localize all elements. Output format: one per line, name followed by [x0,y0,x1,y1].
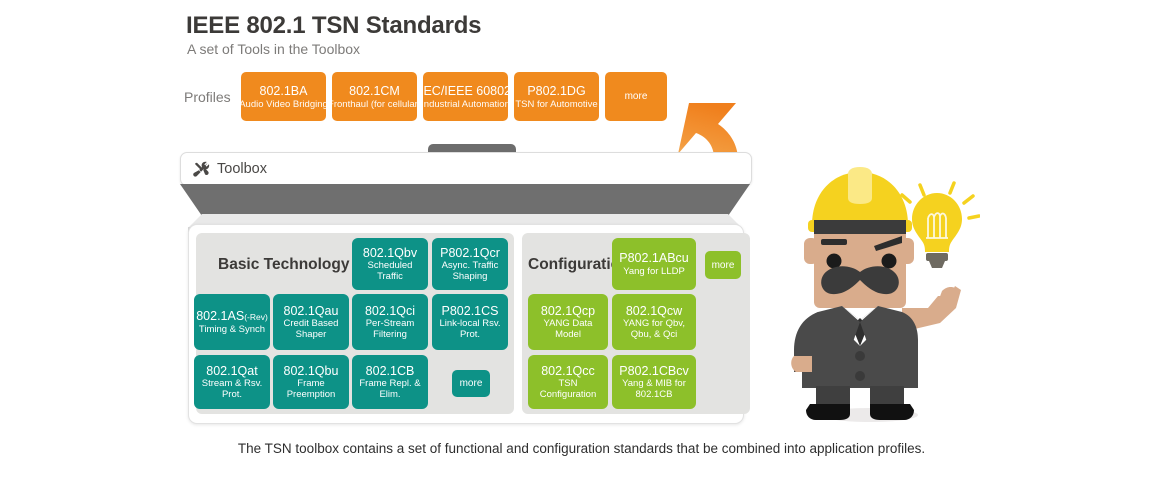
tile-code: 802.1Qcw [626,304,682,319]
eyebrow-left [821,239,847,245]
profile-desc: Industrial Automation [421,99,510,110]
tile-8021qcw[interactable]: 802.1Qcw YANG for Qbv, Qbu, & Qci [612,294,696,350]
toolbox-lid-underside [180,184,750,216]
tile-p8021cbcv[interactable]: P802.1CBcv Yang & MIB for 802.1CB [612,355,696,409]
tile-code-main: 802.1AS [196,309,244,323]
hand-left [791,356,812,372]
profile-chip-8021ba[interactable]: 802.1BA Audio Video Bridging [241,72,326,121]
tile-desc: YANG for Qbv, Qbu, & Qci [615,318,693,340]
profile-code: IEC/IEEE 60802 [420,84,511,99]
tile-desc: Timing & Synch [199,324,265,335]
profile-desc: TSN for Automotive [515,99,597,110]
profile-code: 802.1BA [260,84,308,99]
profile-chip-iec-ieee-60802[interactable]: IEC/IEEE 60802 Industrial Automation [423,72,508,121]
lightbulb-icon [912,193,962,268]
tile-p8021qcr[interactable]: P802.1Qcr Async. Traffic Shaping [432,238,508,290]
toolbox-lid-inner: Toolbox [193,153,267,185]
tile-code: 802.1Qcp [541,304,595,319]
profile-desc: Fronthaul (for cellular) [328,99,421,110]
page-subtitle: A set of Tools in the Toolbox [187,41,360,57]
tile-code: P802.1Qcr [440,246,500,261]
tile-desc: Async. Traffic Shaping [435,260,505,282]
tile-code-suffix: (-Rev) [244,312,268,322]
tile-desc: Frame Preemption [276,378,346,400]
tile-desc: TSN Configuration [531,378,605,400]
tile-code: P802.1CBcv [619,364,688,379]
tile-desc: Yang & MIB for 802.1CB [615,378,693,400]
profile-code: 802.1CM [349,84,400,99]
tile-8021qcc[interactable]: 802.1Qcc TSN Configuration [528,355,608,409]
tile-code: 802.1Qat [206,364,257,379]
tile-desc: Frame Repl. & Elim. [355,378,425,400]
eye-right [882,254,897,269]
infographic-stage: IEEE 802.1 TSN Standards A set of Tools … [0,0,1163,498]
tile-code: P802.1CS [442,304,499,319]
toolbox-label: Toolbox [217,161,267,177]
tile-desc: Per-Stream Filtering [355,318,425,340]
tile-desc: Stream & Rsv. Prot. [197,378,267,400]
tile-desc: Credit Based Shaper [276,318,346,340]
tile-code: 802.1Qbu [284,364,339,379]
basic-technology-title: Basic Technology [218,256,350,274]
construction-worker-illustration [790,160,980,425]
profile-chip-p8021dg[interactable]: P802.1DG TSN for Automotive [514,72,599,121]
profile-chip-8021cm[interactable]: 802.1CM Fronthaul (for cellular) [332,72,417,121]
shoe-right [870,404,914,420]
tile-code: P802.1ABcu [619,251,689,266]
tile-8021cb[interactable]: 802.1CB Frame Repl. & Elim. [352,355,428,409]
button-lower [855,371,865,381]
tile-8021qbu[interactable]: 802.1Qbu Frame Preemption [273,355,349,409]
basic-technology-more-button[interactable]: more [452,370,490,397]
tile-8021as-rev[interactable]: 802.1AS(-Rev) Timing & Synch [194,294,270,350]
tile-8021qau[interactable]: 802.1Qau Credit Based Shaper [273,294,349,350]
eye-left [827,254,842,269]
shoe-left [806,404,850,420]
profile-code: P802.1DG [527,84,585,99]
figure-caption: The TSN toolbox contains a set of functi… [0,441,1163,456]
profile-desc: Audio Video Bridging [239,99,328,110]
tile-code: 802.1AS(-Rev) [196,309,268,325]
tile-8021qcp[interactable]: 802.1Qcp YANG Data Model [528,294,608,350]
tile-p8021cs[interactable]: P802.1CS Link-local Rsv. Prot. [432,294,508,350]
tools-cross-icon [193,161,210,178]
hat-band [814,220,906,234]
tile-code: 802.1CB [366,364,415,379]
tile-8021qbv[interactable]: 802.1Qbv Scheduled Traffic [352,238,428,290]
toolbox-lid[interactable]: Toolbox [180,152,752,186]
tile-code: 802.1Qau [284,304,339,319]
tile-desc: Yang for LLDP [623,266,685,277]
tile-code: 802.1Qci [365,304,415,319]
profiles-label: Profiles [184,89,231,105]
tile-8021qat[interactable]: 802.1Qat Stream & Rsv. Prot. [194,355,270,409]
tile-p8021abcu[interactable]: P802.1ABcu Yang for LLDP [612,238,696,290]
tile-8021qci[interactable]: 802.1Qci Per-Stream Filtering [352,294,428,350]
profiles-row: 802.1BA Audio Video Bridging 802.1CM Fro… [241,72,667,121]
tile-code: 802.1Qcc [541,364,595,379]
page-title: IEEE 802.1 TSN Standards [186,12,481,40]
button-upper [855,351,865,361]
tile-desc: Scheduled Traffic [355,260,425,282]
tile-desc: YANG Data Model [531,318,605,340]
configuration-more-button[interactable]: more [705,251,741,279]
tile-desc: Link-local Rsv. Prot. [435,318,505,340]
tile-code: 802.1Qbv [363,246,417,261]
